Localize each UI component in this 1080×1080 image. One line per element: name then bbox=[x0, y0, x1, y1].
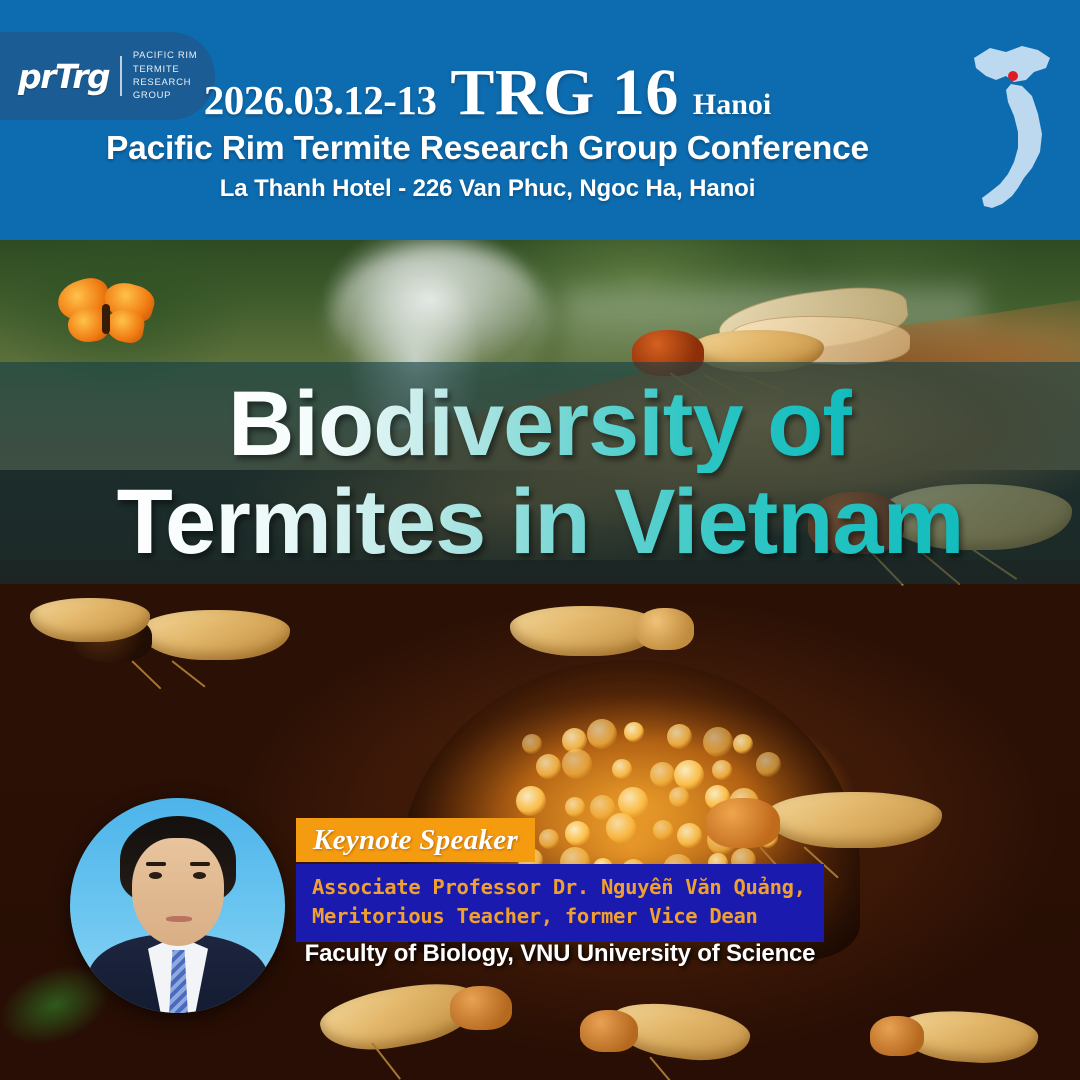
portrait-mouth bbox=[166, 916, 192, 922]
conference-poster: prTrg PACIFIC RIM TERMITE RESEARCH GROUP… bbox=[0, 0, 1080, 1080]
vietnam-map-icon bbox=[956, 36, 1066, 221]
nest-egg bbox=[733, 734, 753, 754]
poster-title: Biodiversity of Termites in Vietnam bbox=[0, 362, 1080, 584]
event-code: TRG 16 bbox=[450, 60, 679, 126]
portrait-eye-left bbox=[149, 872, 162, 879]
nest-egg bbox=[522, 734, 542, 754]
worker-termite-bottom-2 bbox=[580, 1000, 800, 1080]
venue-address: La Thanh Hotel - 226 Van Phuc, Ngoc Ha, … bbox=[0, 175, 975, 203]
speaker-name-line-1: Associate Professor Dr. Nguyễn Văn Quảng… bbox=[312, 873, 808, 902]
nest-egg bbox=[565, 797, 585, 817]
conference-name: Pacific Rim Termite Research Group Confe… bbox=[0, 130, 975, 168]
portrait-brow-right bbox=[190, 862, 210, 866]
nest-egg bbox=[562, 749, 592, 779]
worker-termite-center bbox=[480, 596, 700, 686]
nest-egg bbox=[653, 820, 673, 840]
portrait-brow-left bbox=[146, 862, 166, 866]
speaker-affiliation: Faculty of Biology, VNU University of Sc… bbox=[296, 940, 824, 968]
speaker-name-line-2: Meritorious Teacher, former Vice Dean bbox=[312, 902, 808, 931]
nest-egg bbox=[536, 754, 561, 779]
nest-egg bbox=[618, 787, 648, 817]
title-line-2: Termites in Vietnam bbox=[117, 473, 964, 571]
nest-egg bbox=[612, 759, 632, 779]
worker-termite-bottom-1 bbox=[280, 980, 530, 1080]
poster-header: prTrg PACIFIC RIM TERMITE RESEARCH GROUP… bbox=[0, 0, 1080, 240]
nest-egg bbox=[667, 724, 692, 749]
worker-termite-left bbox=[10, 590, 190, 670]
title-line-1: Biodiversity of bbox=[228, 375, 852, 473]
nest-egg bbox=[539, 829, 559, 849]
keynote-badge-label: Keynote Speaker bbox=[313, 824, 518, 857]
keynote-speaker-badge: Keynote Speaker bbox=[296, 818, 535, 862]
header-text-block: 2026.03.12-13 TRG 16 Hanoi Pacific Rim T… bbox=[0, 60, 975, 203]
nest-egg bbox=[669, 787, 689, 807]
hanoi-marker bbox=[1008, 71, 1018, 81]
nest-egg bbox=[703, 727, 733, 757]
conference-date: 2026.03.12-13 bbox=[204, 80, 437, 126]
worker-termite-bottom-3 bbox=[870, 1008, 1080, 1080]
nest-egg bbox=[624, 722, 644, 742]
header-primary-line: 2026.03.12-13 TRG 16 Hanoi bbox=[0, 60, 975, 126]
host-city: Hanoi bbox=[693, 90, 771, 126]
portrait-face bbox=[132, 838, 224, 946]
portrait-eye-right bbox=[193, 872, 206, 879]
butterfly-icon bbox=[52, 278, 162, 350]
speaker-portrait bbox=[70, 798, 285, 1013]
speaker-name-box: Associate Professor Dr. Nguyễn Văn Quảng… bbox=[296, 864, 824, 942]
nest-egg bbox=[565, 821, 590, 846]
